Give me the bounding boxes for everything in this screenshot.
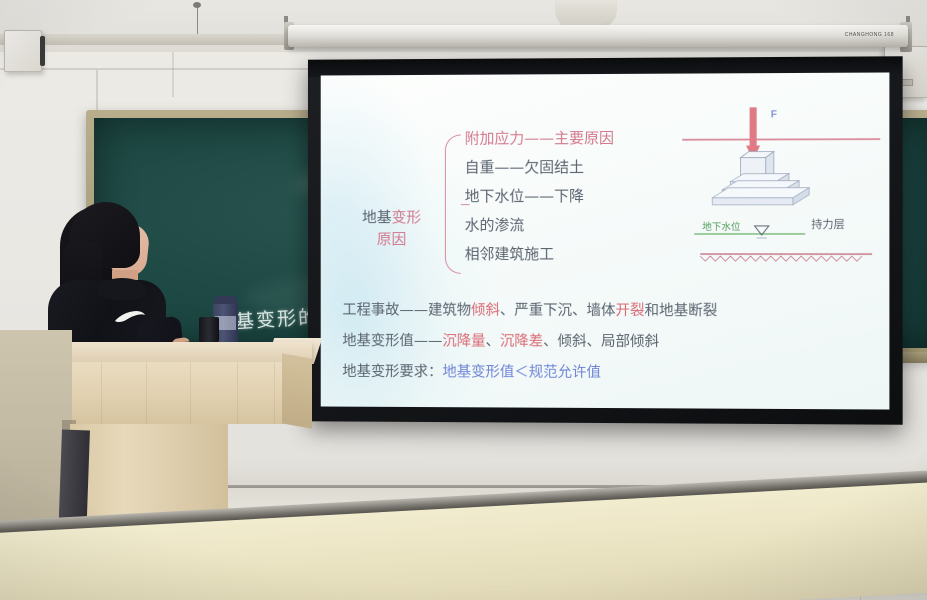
slide-line: 工程事故——建筑物倾斜、严重下沉、墙体开裂和地基断裂 bbox=[342, 296, 717, 328]
projector-screen-roller[interactable]: CHANGHONG 168 bbox=[288, 25, 908, 47]
wire-anchor bbox=[193, 2, 201, 8]
slide-bottom-lines: 工程事故——建筑物倾斜、严重下沉、墙体开裂和地基断裂 地基变形值——沉降量、沉降… bbox=[342, 296, 717, 390]
cause-item: 水的渗流 bbox=[465, 211, 614, 240]
brace-label-line1: 地基变形 bbox=[342, 206, 441, 228]
projection-screen-frame: 地基变形 原因 附加应力——主要原因 自重——欠固结土 地下水位——下降 水的渗… bbox=[308, 56, 903, 424]
roller-brand-label: CHANGHONG 168 bbox=[845, 32, 894, 38]
cause-item: 地下水位——下降 bbox=[465, 182, 614, 211]
brace-label-pink: 变形 bbox=[392, 208, 422, 226]
line-segment: 开裂 bbox=[615, 303, 644, 319]
footing-base bbox=[712, 198, 793, 205]
cable bbox=[40, 36, 45, 66]
projection-screen: 地基变形 原因 附加应力——主要原因 自重——欠固结土 地下水位——下降 水的渗… bbox=[321, 72, 890, 409]
line-segment: 地基变形值—— bbox=[342, 333, 442, 349]
line-segment: 工程事故——建筑物 bbox=[342, 302, 471, 318]
wall-joint-left-2 bbox=[172, 52, 174, 97]
foundation-diagram: F bbox=[680, 105, 882, 266]
lectern-front-panel bbox=[38, 362, 298, 424]
curly-brace-icon bbox=[445, 134, 461, 273]
line-segment: 地基变形要求： bbox=[342, 364, 442, 380]
cause-item: 自重——欠固结土 bbox=[465, 153, 614, 182]
slide-line: 地基变形要求：地基变形值＜规范允许值 bbox=[342, 357, 717, 390]
underlying-layer-hatch bbox=[700, 256, 862, 261]
line-segment: 、 bbox=[486, 334, 500, 350]
cause-item: 附加应力——主要原因 bbox=[465, 124, 614, 153]
slide-line: 地基变形值——沉降量、沉降差、倾斜、局部倾斜 bbox=[342, 326, 717, 358]
wood-grain bbox=[101, 362, 102, 424]
force-label: F bbox=[771, 109, 777, 120]
cause-item: 相邻建筑施工 bbox=[465, 240, 614, 269]
wood-grain bbox=[274, 362, 275, 424]
line-segment: 沉降量 bbox=[442, 334, 485, 350]
line-segment: 沉降差 bbox=[500, 334, 543, 350]
brand-swoosh-icon bbox=[114, 310, 146, 322]
wood-grain bbox=[146, 362, 147, 424]
wood-grain bbox=[237, 362, 238, 424]
bottle-cap bbox=[214, 296, 237, 304]
hanging-wire bbox=[197, 6, 198, 34]
lectern-top bbox=[32, 342, 312, 364]
bearing-layer-label: 持力层 bbox=[811, 217, 844, 231]
lectern-side-panel bbox=[282, 353, 312, 428]
line-segment: 、倾斜、局部倾斜 bbox=[543, 334, 659, 350]
classroom-scene: 地基变形的原因 附加应力 CHANGHONG 168 地基变形 原因 bbox=[0, 0, 927, 600]
force-arrow-shaft bbox=[750, 107, 757, 145]
slide-content: 地基变形 原因 附加应力——主要原因 自重——欠固结土 地下水位——下降 水的渗… bbox=[321, 72, 890, 409]
foundation-diagram-svg: F bbox=[680, 105, 882, 266]
projector-control-box[interactable] bbox=[4, 30, 42, 72]
ground-line bbox=[682, 139, 880, 140]
brace-label-dark: 地基 bbox=[362, 208, 392, 226]
line-segment: 、严重下沉、墙体 bbox=[500, 303, 616, 319]
line-segment: 地基变形值＜规范允许值 bbox=[442, 364, 601, 381]
line-segment: 和地基断裂 bbox=[645, 303, 718, 319]
cause-list: 附加应力——主要原因 自重——欠固结土 地下水位——下降 水的渗流 相邻建筑施工 bbox=[465, 124, 614, 269]
groundwater-label: 地下水位 bbox=[702, 221, 741, 233]
drinking-cup[interactable] bbox=[199, 317, 219, 343]
hoodie-collar bbox=[98, 278, 146, 300]
brace-label: 地基变形 原因 bbox=[342, 206, 441, 250]
wood-grain bbox=[190, 362, 191, 424]
swoosh-svg bbox=[114, 311, 146, 323]
line-segment: 倾斜 bbox=[471, 303, 500, 319]
brace-label-line2: 原因 bbox=[342, 228, 441, 250]
